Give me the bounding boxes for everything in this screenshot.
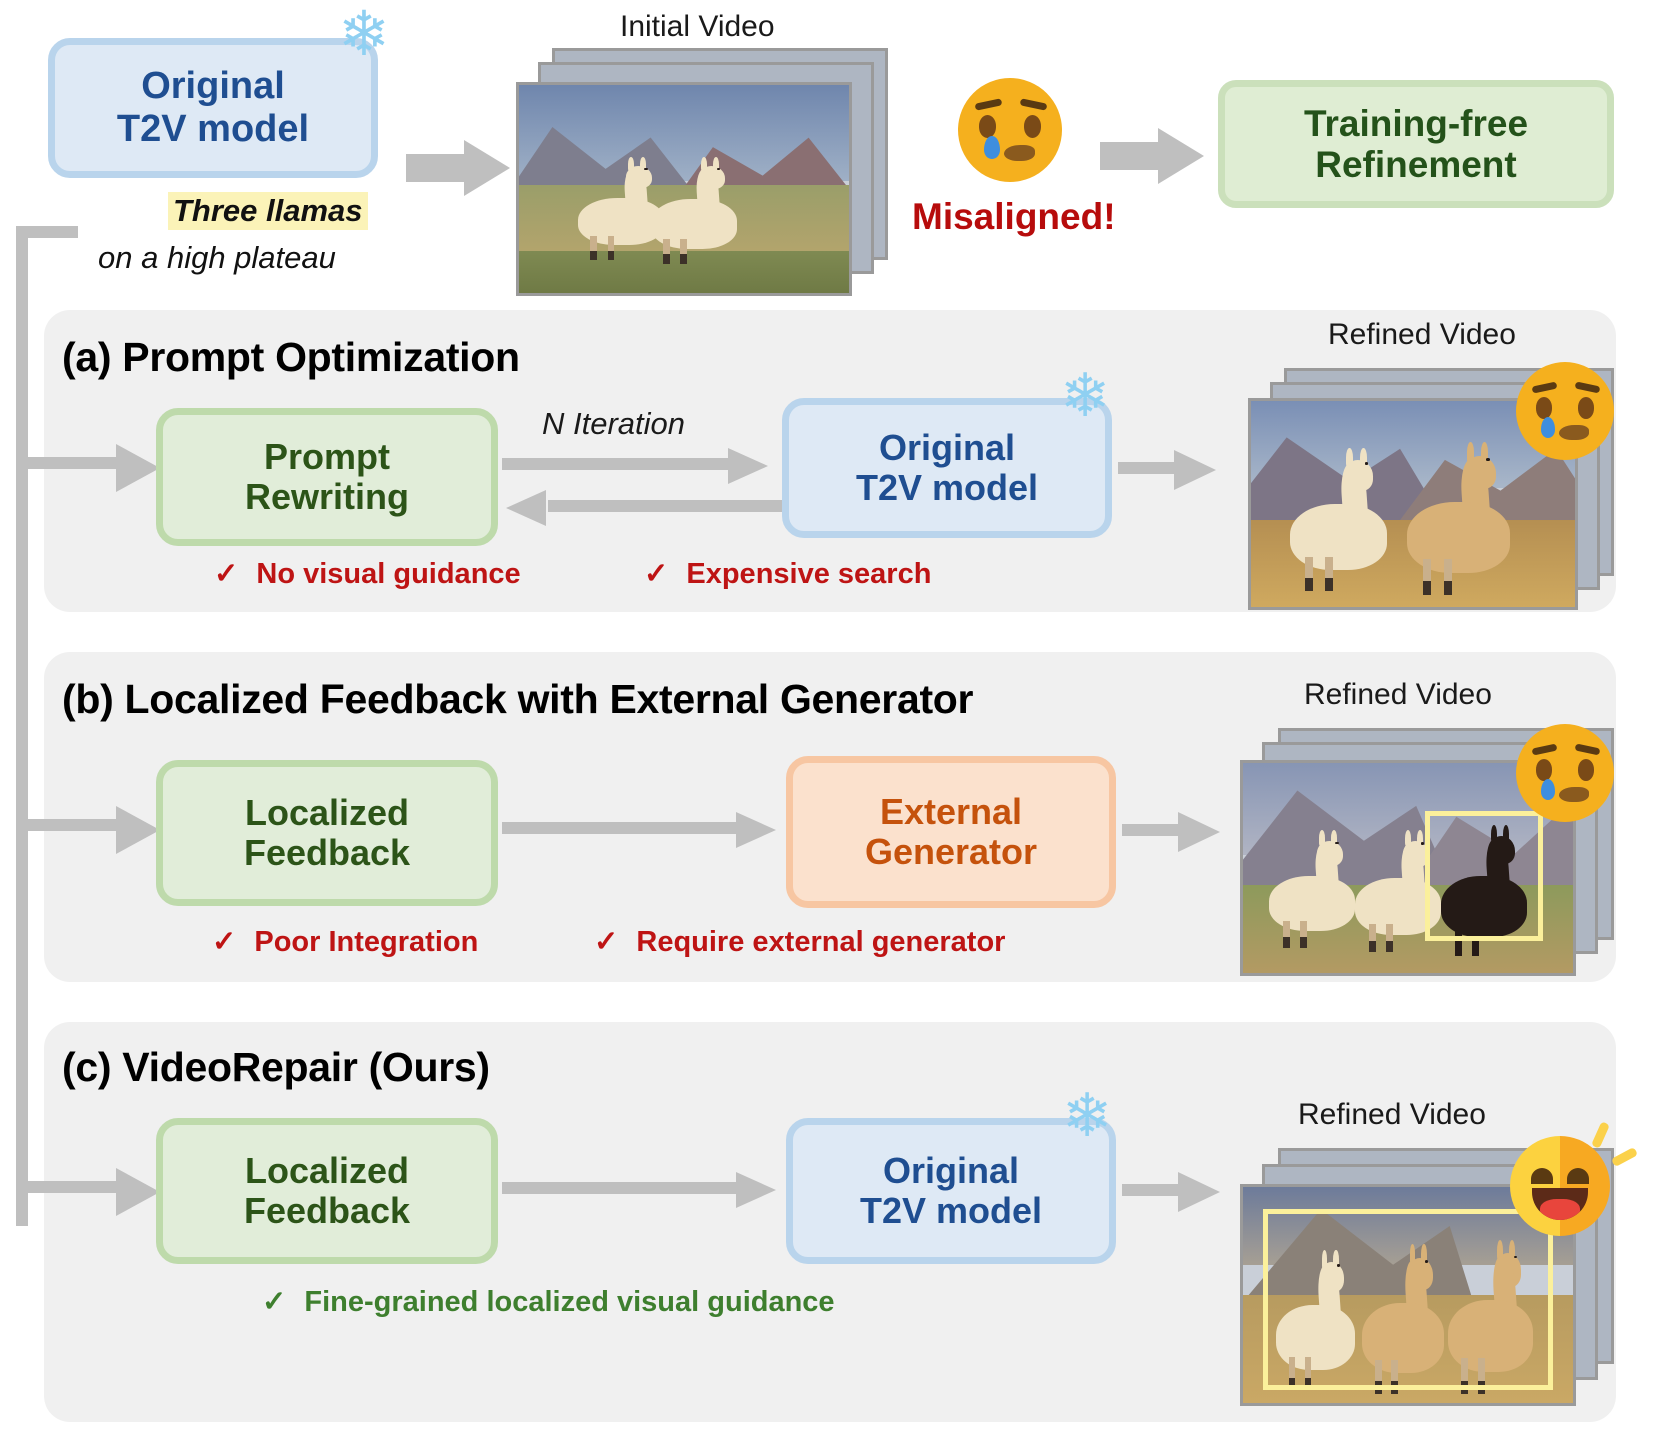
llama <box>1290 463 1387 591</box>
prompt-highlight: Three llamas <box>168 192 368 230</box>
arrow-into-localized-feedback-c <box>16 1168 162 1216</box>
bounding-box-highlight <box>1425 811 1544 941</box>
feedback-line-vertical <box>16 226 28 1226</box>
refinement-line1: Training-free <box>1304 103 1528 144</box>
snowflake-icon: ❄ <box>338 4 390 66</box>
t2v-box-line2: T2V model <box>117 108 309 151</box>
t2v-c-line1: Original <box>883 1151 1019 1191</box>
n-iteration-label: N Iteration <box>542 406 685 442</box>
bullet-text: Poor Integration <box>254 926 478 958</box>
prompt-rest: on a high plateau <box>98 240 336 276</box>
bullet-poor-integration: ✓ Poor Integration <box>212 924 478 959</box>
t2v-a-line1: Original <box>879 428 1015 468</box>
bullet-no-visual-guidance: ✓ No visual guidance <box>214 556 521 591</box>
arrow-t2v-to-initial-video <box>406 140 510 196</box>
check-icon: ✓ <box>212 926 236 958</box>
initial-video-caption: Initial Video <box>620 10 775 44</box>
crying-face-icon <box>1516 724 1614 822</box>
section-b-title: (b) Localized Feedback with External Gen… <box>62 676 973 723</box>
localized-feedback-c-line2: Feedback <box>244 1191 410 1231</box>
refined-video-caption-c: Refined Video <box>1298 1098 1486 1132</box>
arrow-generator-to-refined-video-b <box>1122 812 1232 852</box>
grinning-face-icon <box>1510 1136 1610 1236</box>
bullet-text: Require external generator <box>636 926 1005 958</box>
training-free-refinement-box[interactable]: Training-free Refinement <box>1218 80 1614 208</box>
original-t2v-model-box-top[interactable]: Original T2V model <box>48 38 378 178</box>
video-frame-front <box>516 82 852 296</box>
refined-video-caption-a: Refined Video <box>1328 318 1516 352</box>
check-icon: ✓ <box>644 558 668 590</box>
t2v-box-line1: Original <box>141 65 285 108</box>
external-generator-line2: Generator <box>865 832 1037 872</box>
prompt-rewriting-line1: Prompt <box>264 437 390 477</box>
check-icon: ✓ <box>262 1286 286 1318</box>
arrow-to-refinement <box>1100 128 1210 184</box>
bullet-text: No visual guidance <box>256 558 520 590</box>
bounding-box-highlight <box>1263 1209 1553 1390</box>
external-generator-box[interactable]: External Generator <box>786 756 1116 908</box>
bullet-expensive-search: ✓ Expensive search <box>644 556 931 591</box>
localized-feedback-box-c[interactable]: Localized Feedback <box>156 1118 498 1264</box>
snowflake-icon: ❄ <box>1062 1086 1112 1146</box>
bullet-fine-grained-guidance: ✓ Fine-grained localized visual guidance <box>262 1284 835 1319</box>
section-a-title: (a) Prompt Optimization <box>62 334 520 381</box>
arrow-t2v-to-refined-video-a <box>1118 450 1228 490</box>
localized-feedback-box-b[interactable]: Localized Feedback <box>156 760 498 906</box>
crying-face-icon <box>1516 362 1614 460</box>
localized-feedback-b-line1: Localized <box>245 793 409 833</box>
section-c-title: (c) VideoRepair (Ours) <box>62 1044 490 1091</box>
t2v-a-line2: T2V model <box>856 468 1038 508</box>
refined-video-caption-b: Refined Video <box>1304 678 1492 712</box>
arrow-into-localized-feedback-b <box>16 806 162 854</box>
arrow-rewriting-to-t2v <box>502 448 786 484</box>
check-icon: ✓ <box>214 558 238 590</box>
localized-feedback-c-line1: Localized <box>245 1151 409 1191</box>
external-generator-line1: External <box>880 792 1022 832</box>
snowflake-icon: ❄ <box>1060 366 1110 426</box>
initial-video-stack[interactable] <box>516 48 888 296</box>
bullet-text: Fine-grained localized visual guidance <box>304 1286 834 1318</box>
arrow-feedback-to-external-generator <box>502 812 796 848</box>
t2v-c-line2: T2V model <box>860 1191 1042 1231</box>
localized-feedback-b-line2: Feedback <box>244 833 410 873</box>
arrow-t2v-to-rewriting <box>496 490 786 526</box>
arrow-into-prompt-rewriting <box>16 444 162 492</box>
llama <box>651 168 737 264</box>
prompt-rewriting-line2: Rewriting <box>245 477 409 517</box>
feedback-line-top-stub <box>16 226 78 238</box>
crying-face-icon <box>958 78 1062 182</box>
refinement-line2: Refinement <box>1315 144 1516 185</box>
misaligned-label: Misaligned! <box>912 196 1116 238</box>
arrow-feedback-to-t2v-c <box>502 1172 796 1208</box>
bullet-require-external-generator: ✓ Require external generator <box>594 924 1005 959</box>
check-icon: ✓ <box>594 926 618 958</box>
bullet-text: Expensive search <box>686 558 931 590</box>
llama <box>1407 459 1511 595</box>
arrow-t2v-to-refined-video-c <box>1122 1172 1232 1212</box>
llama <box>1269 843 1355 948</box>
prompt-rewriting-box[interactable]: Prompt Rewriting <box>156 408 498 546</box>
